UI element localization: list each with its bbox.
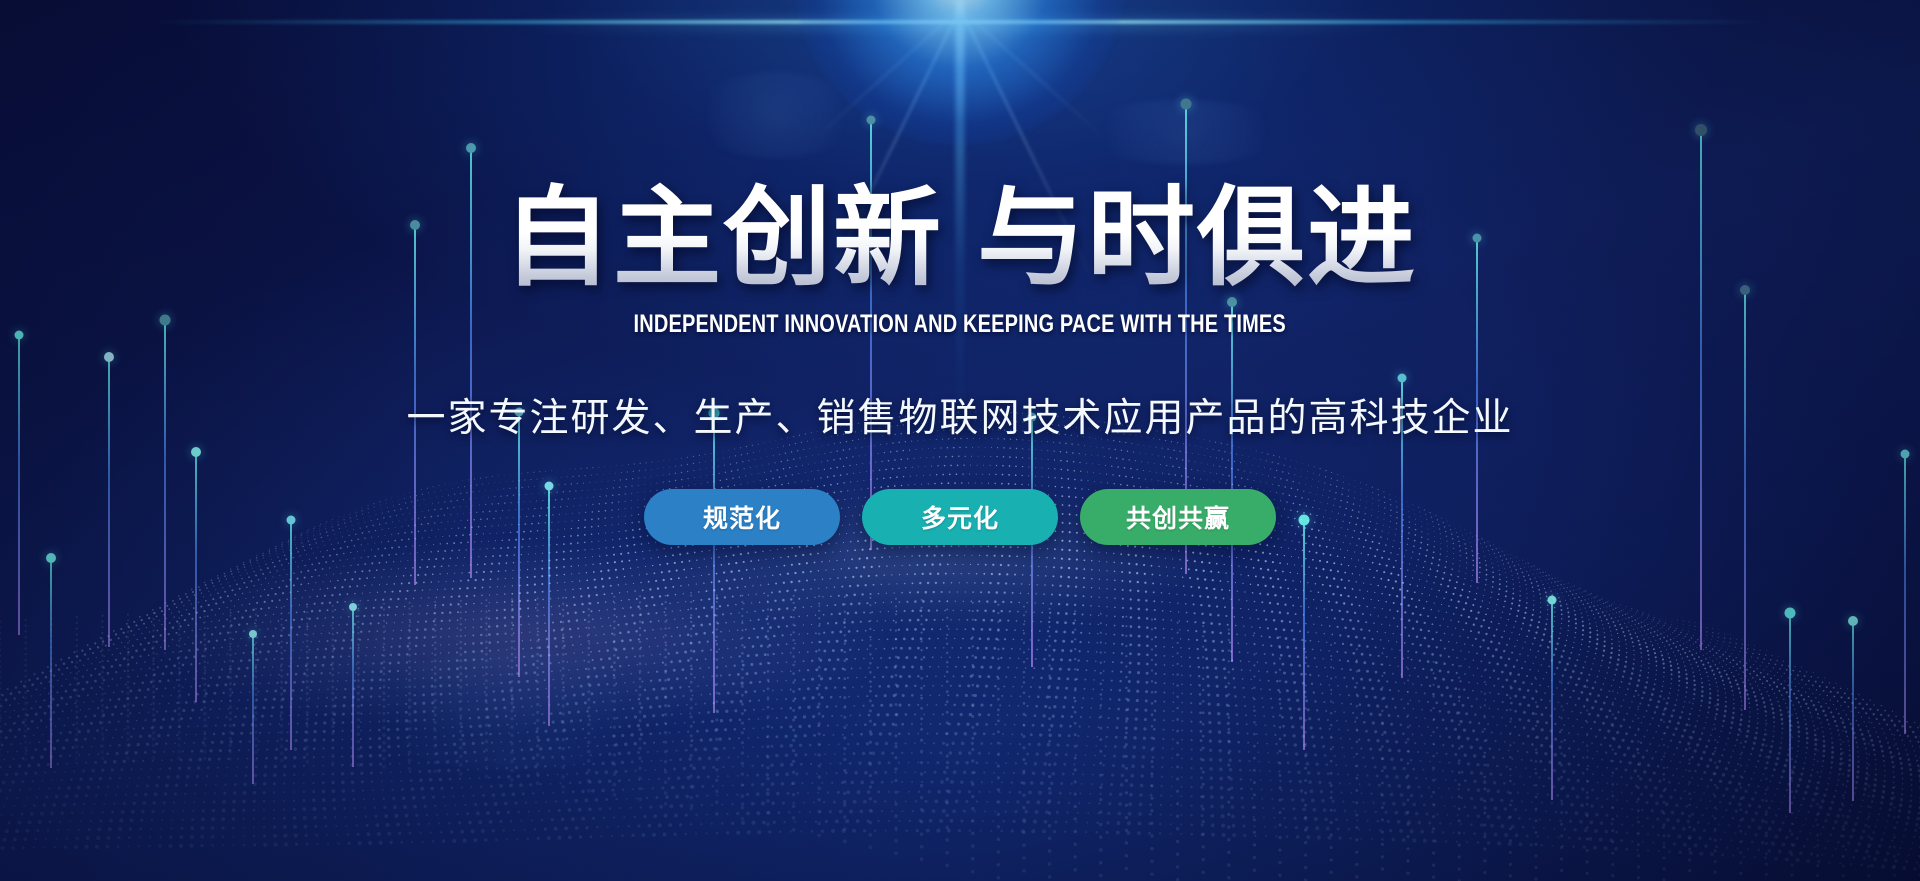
subtitle-english: INDEPENDENT INNOVATION AND KEEPING PACE …	[634, 310, 1286, 339]
banner-content: 自主创新与时俱进 INDEPENDENT INNOVATION AND KEEP…	[0, 0, 1920, 881]
pill-button-win-win[interactable]: 共创共赢	[1080, 489, 1276, 545]
company-tagline: 一家专注研发、生产、销售物联网技术应用产品的高科技企业	[406, 387, 1513, 443]
pill-label: 规范化	[703, 499, 781, 535]
pill-label: 共创共赢	[1126, 499, 1230, 535]
keyword-pill-group: 规范化 多元化 共创共赢	[644, 489, 1276, 545]
pill-button-diversification[interactable]: 多元化	[862, 489, 1058, 545]
pill-label: 多元化	[921, 499, 999, 535]
hero-banner: 自主创新与时俱进 INDEPENDENT INNOVATION AND KEEP…	[0, 0, 1920, 881]
headline-part-left: 自主创新	[503, 177, 943, 298]
headline-part-right: 与时俱进	[977, 177, 1417, 298]
page-title: 自主创新与时俱进	[503, 182, 1417, 294]
pill-button-standardization[interactable]: 规范化	[644, 489, 840, 545]
